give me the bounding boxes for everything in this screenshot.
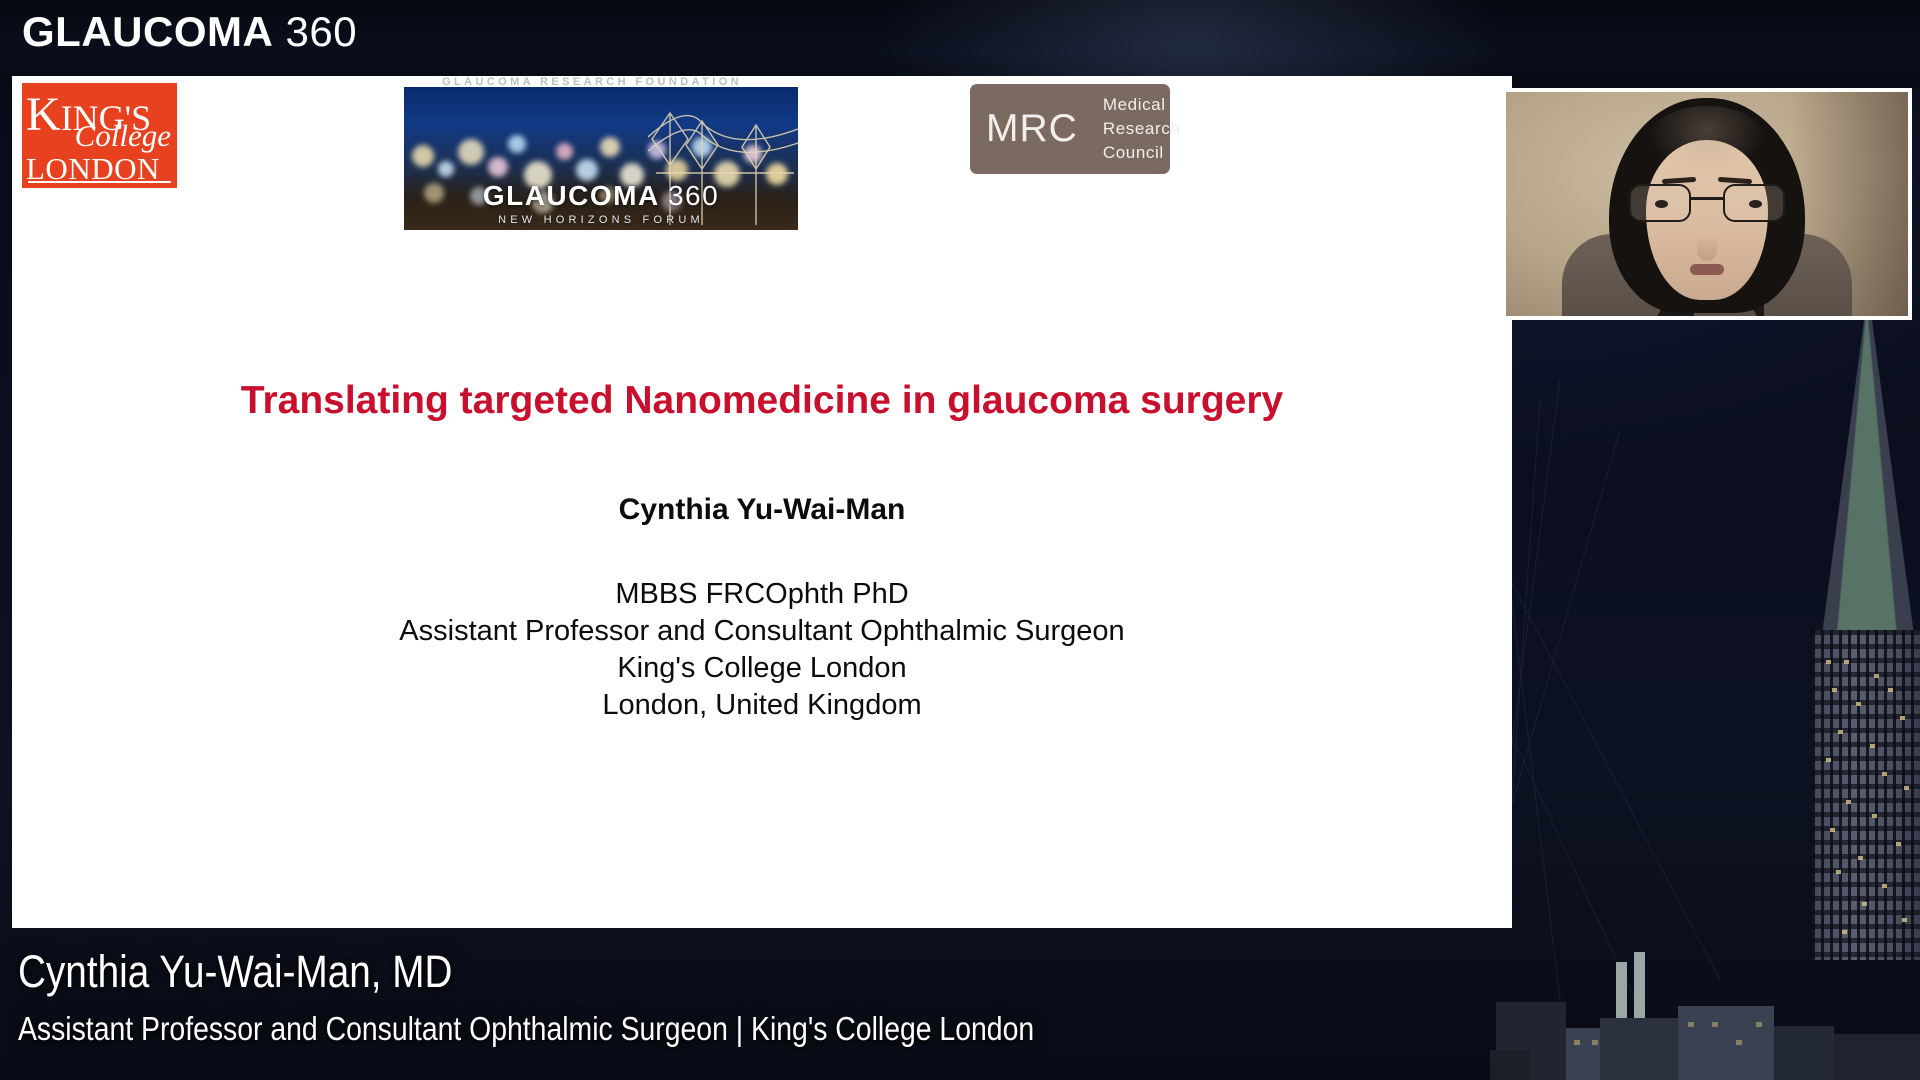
transamerica-pyramid — [1793, 260, 1920, 960]
top-brand-bar: GLAUCOMA 360 — [0, 0, 1920, 88]
speaker-glasses — [1629, 184, 1785, 224]
glaucoma-360-banner-image: GLAUCOMA 360 NEW HORIZONS FORUM — [404, 87, 798, 230]
brand-light-text: 360 — [285, 8, 357, 55]
banner-caption: GLAUCOMA 360 — [404, 180, 798, 212]
credential-line-degrees: MBBS FRCOphth PhD — [12, 576, 1512, 613]
banner-caption-bold: GLAUCOMA — [483, 180, 659, 211]
webcam-video-tile[interactable] — [1502, 88, 1912, 320]
event-brand-title: GLAUCOMA 360 — [22, 8, 357, 56]
banner-caption-light: 360 — [668, 180, 719, 211]
kcl-initial: K — [26, 88, 61, 141]
credential-line-institution: King's College London — [12, 650, 1512, 687]
mrc-logo: MRC Medical Research Council — [970, 84, 1170, 174]
mrc-line-research: Research — [1103, 117, 1181, 141]
presenter-credentials: MBBS FRCOphth PhD Assistant Professor an… — [12, 576, 1512, 724]
hair-highlight — [1647, 106, 1767, 176]
kcl-college-text: College — [75, 118, 171, 154]
brand-bold-text: GLAUCOMA — [22, 8, 273, 55]
credential-line-role: Assistant Professor and Consultant Ophth… — [12, 613, 1512, 650]
banner-subtitle: NEW HORIZONS FORUM — [404, 214, 798, 226]
presenter-name: Cynthia Yu-Wai-Man — [12, 493, 1512, 527]
lower-third-name: Cynthia Yu-Wai-Man, MD — [18, 946, 452, 998]
mrc-acronym: MRC — [970, 107, 1090, 151]
mrc-fullname: Medical Research Council — [1090, 93, 1181, 165]
mrc-line-council: Council — [1103, 141, 1181, 165]
lower-third-caption: Cynthia Yu-Wai-Man, MD Assistant Profess… — [0, 928, 1920, 1080]
webinar-stage: GLAUCOMA 360 KING'S College LONDON GLAUC… — [0, 0, 1920, 1080]
credential-line-location: London, United Kingdom — [12, 687, 1512, 724]
kings-college-london-logo: KING'S College LONDON — [22, 83, 177, 188]
presentation-slide[interactable]: KING'S College LONDON GLAUCOMA RESEARCH … — [12, 76, 1512, 928]
lower-third-subtitle: Assistant Professor and Consultant Ophth… — [18, 1010, 1034, 1048]
slide-title: Translating targeted Nanomedicine in gla… — [12, 379, 1512, 423]
mrc-line-medical: Medical — [1103, 93, 1181, 117]
kcl-underline — [28, 181, 171, 183]
